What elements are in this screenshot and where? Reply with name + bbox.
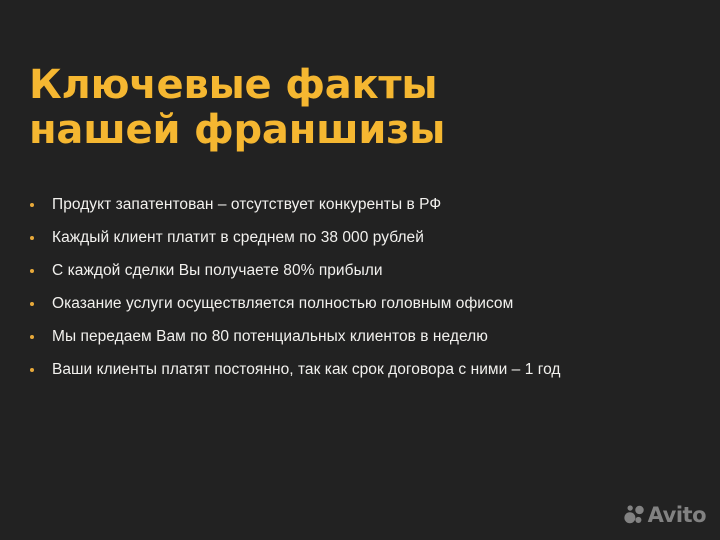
page-title-line-1: Ключевые факты [29,63,649,108]
list-item: Продукт запатентован – отсутствует конку… [29,188,719,221]
slide-canvas: Ключевые факты нашей франшизы Продукт за… [0,0,720,540]
list-item-label: С каждой сделки Вы получаете 80% прибыли [52,261,383,281]
avito-dots-icon [623,504,645,526]
avito-wordmark: Avito [648,505,706,526]
list-item: Оказание услуги осуществляется полностью… [29,287,719,320]
bullet-dot-icon [30,368,34,372]
page-title-line-2: нашей франшизы [29,108,649,153]
list-item: С каждой сделки Вы получаете 80% прибыли [29,254,719,287]
list-item-label: Ваши клиенты платят постоянно, так как с… [52,360,561,380]
list-item-label: Продукт запатентован – отсутствует конку… [52,195,441,215]
list-item-label: Каждый клиент платит в среднем по 38 000… [52,228,424,248]
list-item: Ваши клиенты платят постоянно, так как с… [29,353,719,386]
list-item-label: Мы передаем Вам по 80 потенциальных клие… [52,327,488,347]
list-item: Каждый клиент платит в среднем по 38 000… [29,221,719,254]
list-item-label: Оказание услуги осуществляется полностью… [52,294,513,314]
key-facts-list: Продукт запатентован – отсутствует конку… [29,188,719,386]
bullet-dot-icon [30,335,34,339]
bullet-dot-icon [30,203,34,207]
bullet-dot-icon [30,302,34,306]
list-item: Мы передаем Вам по 80 потенциальных клие… [29,320,719,353]
page-title: Ключевые факты нашей франшизы [29,63,649,153]
avito-watermark: Avito [623,504,706,526]
bullet-dot-icon [30,236,34,240]
bullet-dot-icon [30,269,34,273]
